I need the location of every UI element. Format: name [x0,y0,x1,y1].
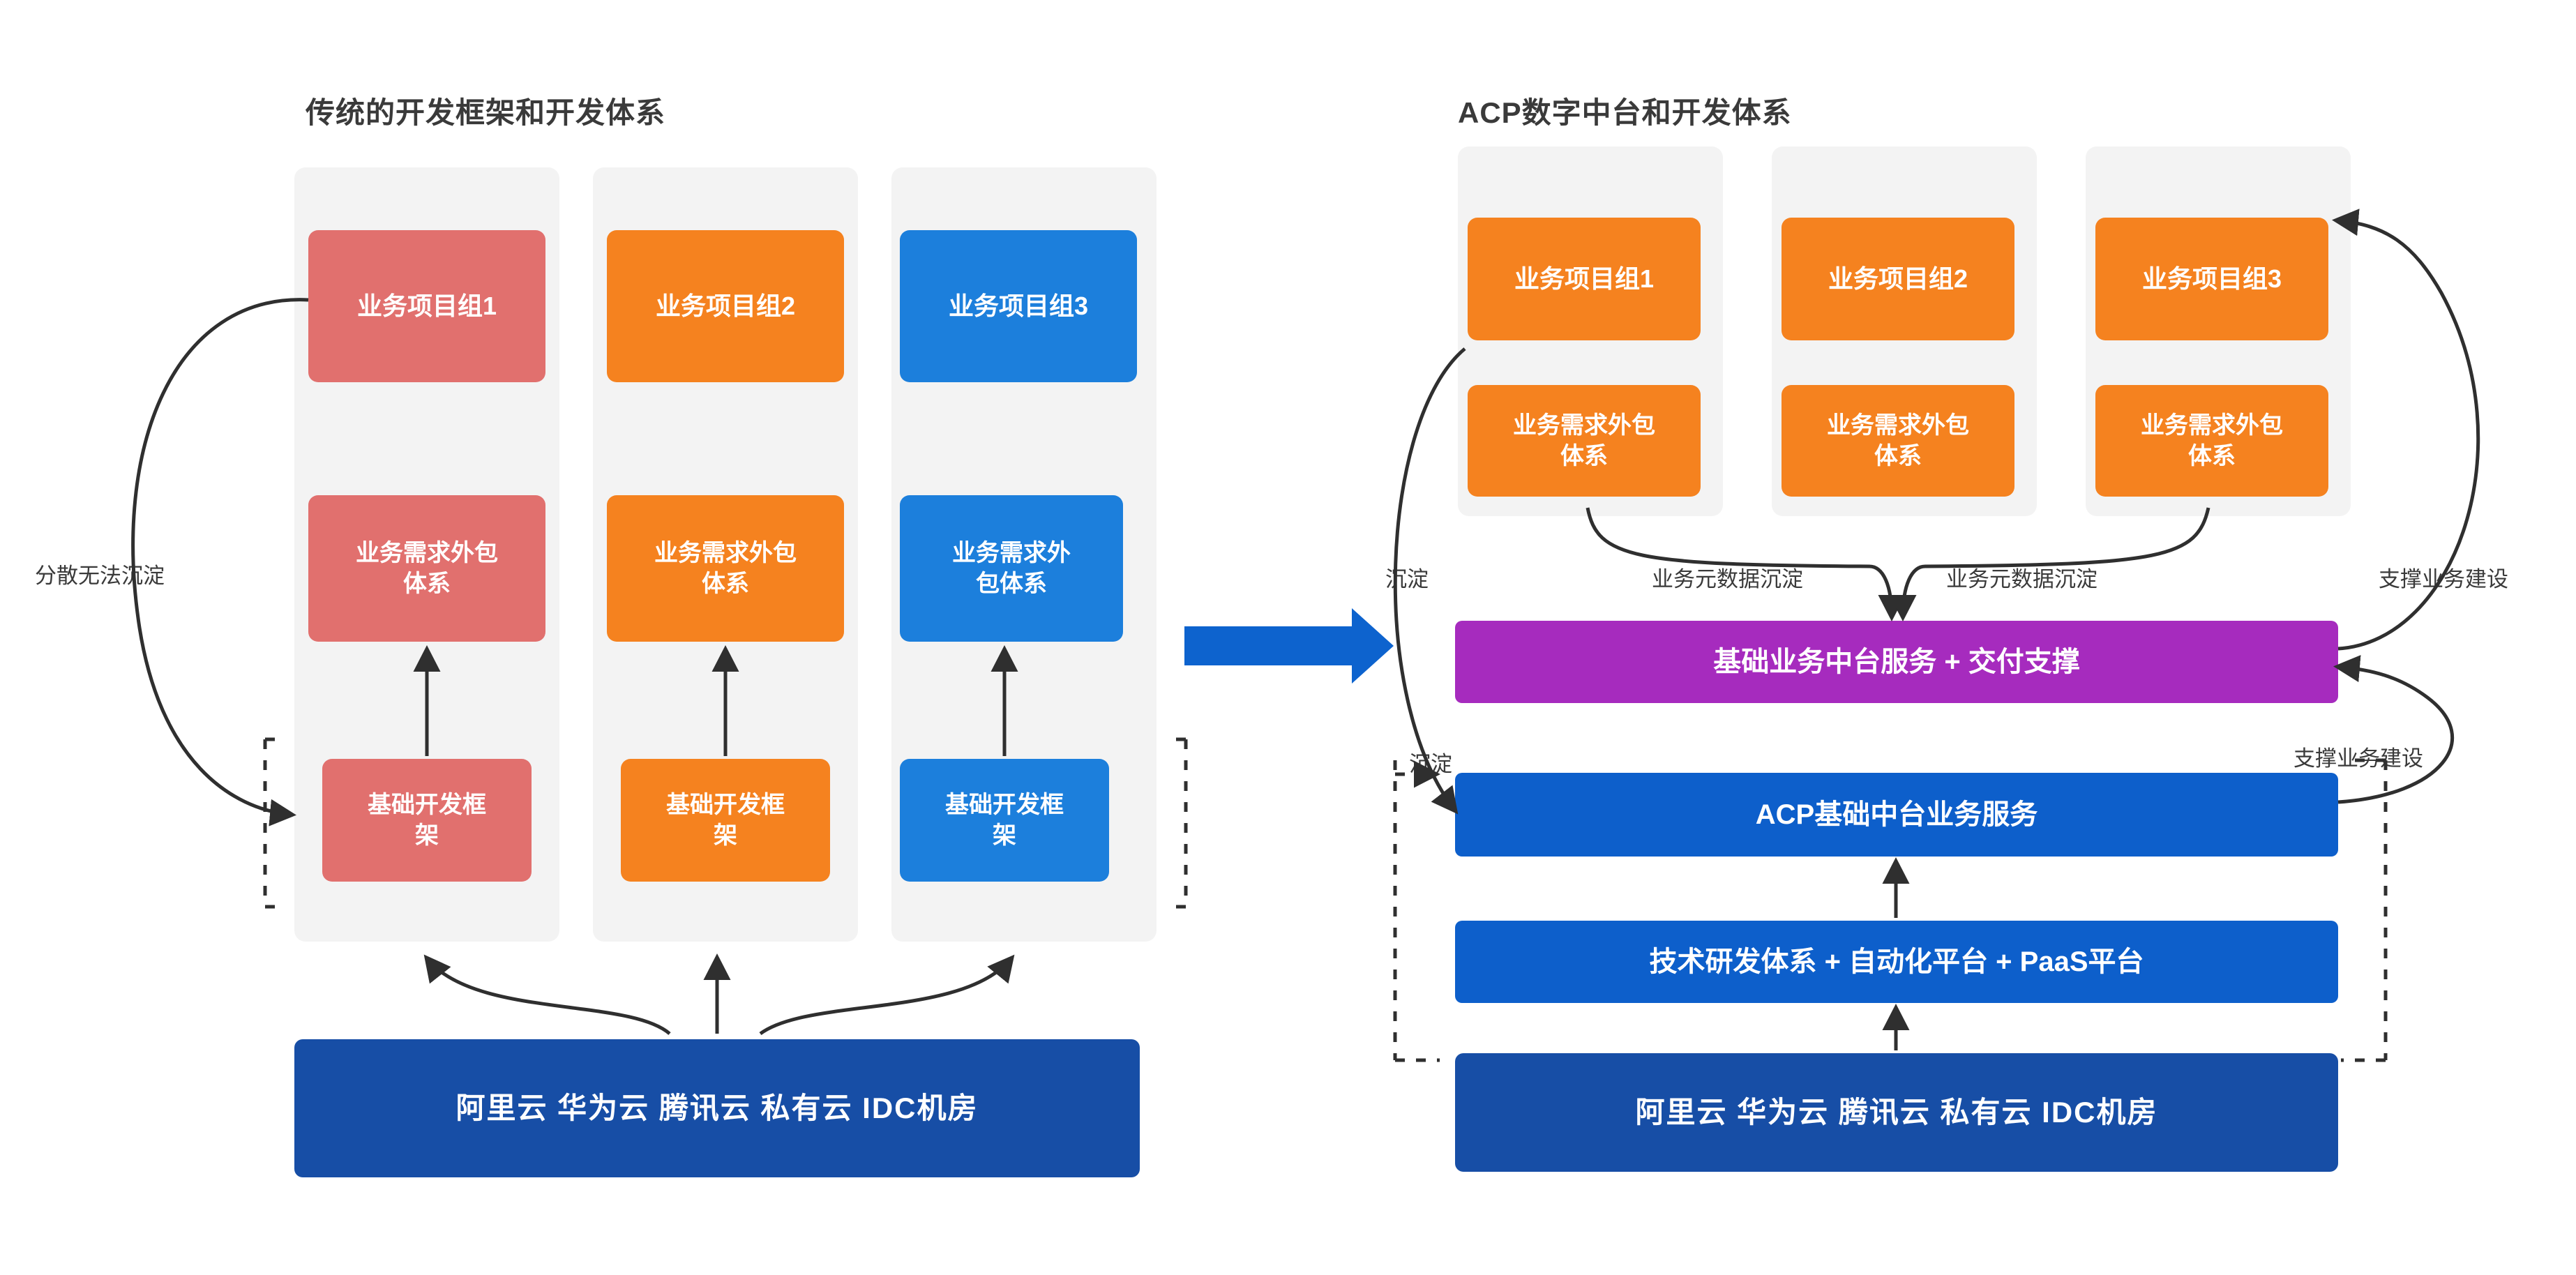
left-cloud-bar-label: 阿里云 华为云 腾讯云 私有云 IDC机房 [455,1089,978,1128]
left-cloud-bar[interactable]: 阿里云 华为云 腾讯云 私有云 IDC机房 [294,1039,1140,1177]
annotation-metadata-2: 业务元数据沉淀 [1946,561,2097,593]
left-box-group-2-label: 业务项目组2 [656,290,795,323]
left-box-group-2[interactable]: 业务项目组2 [607,230,844,382]
left-box-group-1[interactable]: 业务项目组1 [308,230,545,382]
right-box-group-3-label: 业务项目组3 [2142,263,2282,296]
platform-bar-tech[interactable]: 技术研发体系 + 自动化平台 + PaaS平台 [1455,921,2338,1003]
left-panel-title: 传统的开发框架和开发体系 [306,89,665,132]
right-cloud-bar-label: 阿里云 华为云 腾讯云 私有云 IDC机房 [1635,1094,2157,1132]
right-box-outsourcing-3-label: 业务需求外包 体系 [2141,410,2283,471]
annotation-support-1: 支撑业务建设 [2379,561,2508,593]
left-arrow-cloud-to-col-3 [760,958,1011,1034]
right-panel-title: ACP数字中台和开发体系 [1458,89,1792,132]
left-box-outsourcing-2[interactable]: 业务需求外包 体系 [607,495,844,642]
platform-bar-acp[interactable]: ACP基础中台业务服务 [1455,773,2338,857]
right-box-outsourcing-1[interactable]: 业务需求外包 体系 [1468,385,1701,497]
right-cloud-bar[interactable]: 阿里云 华为云 腾讯云 私有云 IDC机房 [1455,1053,2338,1172]
left-box-outsourcing-3-label: 业务需求外 包体系 [952,538,1071,599]
left-box-framework-1[interactable]: 基础开发框 架 [322,759,532,882]
platform-bar-middleoffice-label: 基础业务中台服务 + 交付支撑 [1713,644,2080,680]
right-loop-support-2 [2338,667,2453,802]
annotation-precipitate-2: 沉淀 [1409,746,1452,778]
annotation-metadata-1: 业务元数据沉淀 [1652,561,1803,593]
left-arrow-cloud-to-col-1 [427,958,670,1034]
left-box-framework-3[interactable]: 基础开发框 架 [900,759,1109,882]
right-box-outsourcing-1-label: 业务需求外包 体系 [1513,410,1655,471]
transition-arrow-icon [1184,608,1394,684]
right-box-outsourcing-2[interactable]: 业务需求外包 体系 [1782,385,2014,497]
diagram-canvas: 传统的开发框架和开发体系 业务项目组1 业务需求外包 体系 基础开发框 架 业务… [0,0,2576,1275]
left-box-framework-1-label: 基础开发框 架 [368,790,486,851]
right-box-outsourcing-2-label: 业务需求外包 体系 [1827,410,1969,471]
right-box-group-3[interactable]: 业务项目组3 [2095,218,2328,340]
annotation-precipitate-1: 沉淀 [1385,561,1429,593]
right-box-outsourcing-3[interactable]: 业务需求外包 体系 [2095,385,2328,497]
left-box-outsourcing-2-label: 业务需求外包 体系 [654,538,797,599]
left-box-framework-3-label: 基础开发框 架 [945,790,1064,851]
platform-bar-tech-label: 技术研发体系 + 自动化平台 + PaaS平台 [1649,944,2144,980]
right-box-group-2[interactable]: 业务项目组2 [1782,218,2014,340]
annotation-support-2: 支撑业务建设 [2293,741,2423,772]
left-box-outsourcing-3[interactable]: 业务需求外 包体系 [900,495,1123,642]
platform-bar-middleoffice[interactable]: 基础业务中台服务 + 交付支撑 [1455,621,2338,703]
right-box-group-2-label: 业务项目组2 [1828,263,1968,296]
right-box-group-1-label: 业务项目组1 [1514,263,1654,296]
left-box-outsourcing-1[interactable]: 业务需求外包 体系 [308,495,545,642]
left-box-group-3[interactable]: 业务项目组3 [900,230,1137,382]
right-box-group-1[interactable]: 业务项目组1 [1468,218,1701,340]
left-loop-scattered [133,300,308,815]
left-box-group-1-label: 业务项目组1 [357,290,497,323]
left-box-group-3-label: 业务项目组3 [949,290,1088,323]
annotation-scattered: 分散无法沉淀 [35,558,165,589]
platform-bar-acp-label: ACP基础中台业务服务 [1756,797,2038,833]
left-box-outsourcing-1-label: 业务需求外包 体系 [356,538,498,599]
left-box-framework-2[interactable]: 基础开发框 架 [621,759,830,882]
left-box-framework-2-label: 基础开发框 架 [666,790,785,851]
